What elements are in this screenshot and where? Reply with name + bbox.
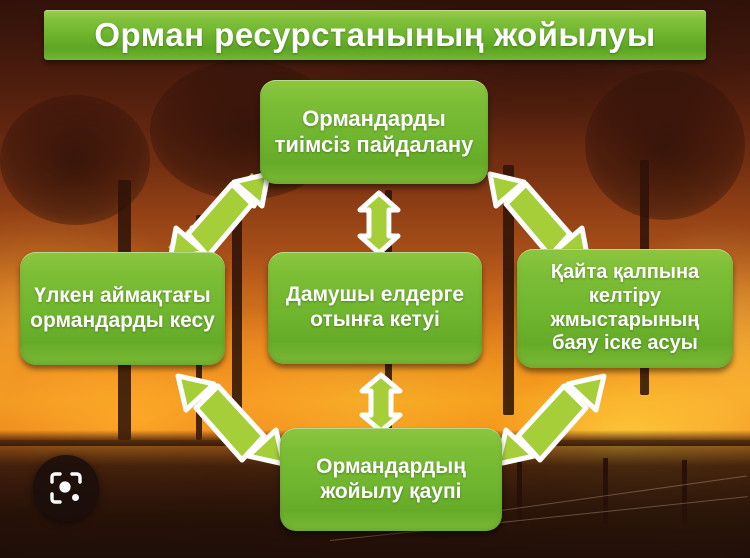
connector-top-left <box>168 172 276 264</box>
diagram-node-left[interactable]: Үлкен аймақтағы ормандарды кесу <box>20 252 225 365</box>
connector-top-center <box>358 192 400 254</box>
connector-bottom-center <box>360 374 402 432</box>
diagram-node-right[interactable]: Қайта қалпына келтіру жмыстарының баяу і… <box>517 249 733 368</box>
page-title: Орман ресурстанының жойылуы <box>94 16 655 54</box>
diagram-node-label: Үлкен аймақтағы ормандарды кесу <box>30 284 215 334</box>
diagram-node-label: Дамушы елдерге отынға кетуі <box>278 283 472 333</box>
diagram-node-bottom[interactable]: Ормандардың жойылу қаупі <box>280 428 502 531</box>
arrow-shaft <box>196 386 264 460</box>
double-headed-arrow-icon <box>362 375 400 431</box>
google-lens-icon <box>48 470 84 506</box>
diagram-node-center[interactable]: Дамушы елдерге отынға кетуі <box>268 252 482 364</box>
diagram-node-label: Ормандардың жойылу қаупі <box>290 455 492 505</box>
diagram-node-label: Ормандарды тиімсіз пайдалану <box>270 106 478 158</box>
connector-bottom-right <box>494 372 610 468</box>
screenshot-root: Орман ресурстанының жойылуы <box>0 0 750 558</box>
diagram-node-top[interactable]: Ормандарды тиімсіз пайдалану <box>260 80 488 184</box>
page-title-banner: Орман ресурстанының жойылуы <box>44 10 706 60</box>
diagram-node-label: Қайта қалпына келтіру жмыстарының баяу і… <box>527 261 723 355</box>
google-lens-button[interactable] <box>33 455 99 521</box>
arrow-shaft <box>188 184 252 256</box>
double-headed-arrow-icon <box>360 193 398 253</box>
arrow-shaft <box>518 386 586 460</box>
connector-bottom-left <box>172 372 288 468</box>
arrow-shaft <box>506 184 570 256</box>
